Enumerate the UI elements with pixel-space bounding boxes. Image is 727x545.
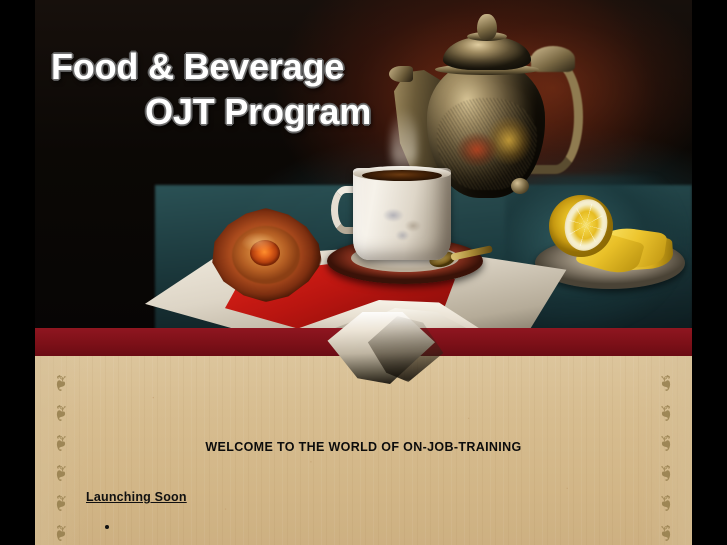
tea-surface [362,170,442,181]
spoon-handle [450,245,493,261]
page-root: Food & Beverage OJT Program ❧ ❧ ❧ ❧ ❧ ❧ … [0,0,727,545]
cup-floral-decoration [377,198,435,246]
teacup-image [325,160,485,305]
teapot-lid [443,36,531,70]
launching-soon-heading: Launching Soon [86,490,187,504]
teapot-foot [511,178,529,194]
page-title: Food & Beverage OJT Program [35,44,375,135]
ornament-icon: ❧ [652,492,682,514]
content-column: Food & Beverage OJT Program ❧ ❧ ❧ ❧ ❧ ❧ … [35,0,692,545]
rose-highlight [240,230,288,270]
ornament-icon: ❧ [45,372,75,394]
content-panel: ❧ ❧ ❧ ❧ ❧ ❧ ❧ ❧ ❧ ❧ ❧ ❧ WELCOME TO THE W… [35,356,692,545]
teapot-knob [477,14,497,40]
launching-bullet-list [105,519,119,533]
ornament-icon: ❧ [45,402,75,424]
ornament-icon: ❧ [45,522,75,544]
page-title-line-2: OJT Program [51,89,375,134]
lemon-plate-image [535,195,690,300]
welcome-heading: WELCOME TO THE WORLD OF ON-JOB-TRAINING [35,440,692,454]
ornament-icon: ❧ [652,522,682,544]
steam [391,108,417,174]
ornament-icon: ❧ [652,402,682,424]
ornament-icon: ❧ [652,462,682,484]
ornament-icon: ❧ [45,462,75,484]
ornament-icon: ❧ [45,492,75,514]
rose-image [210,208,322,302]
page-title-line-1: Food & Beverage [51,44,375,89]
ornament-icon: ❧ [652,372,682,394]
hero-banner-image: Food & Beverage OJT Program [35,0,692,330]
teapot-spout-tip [389,66,413,82]
